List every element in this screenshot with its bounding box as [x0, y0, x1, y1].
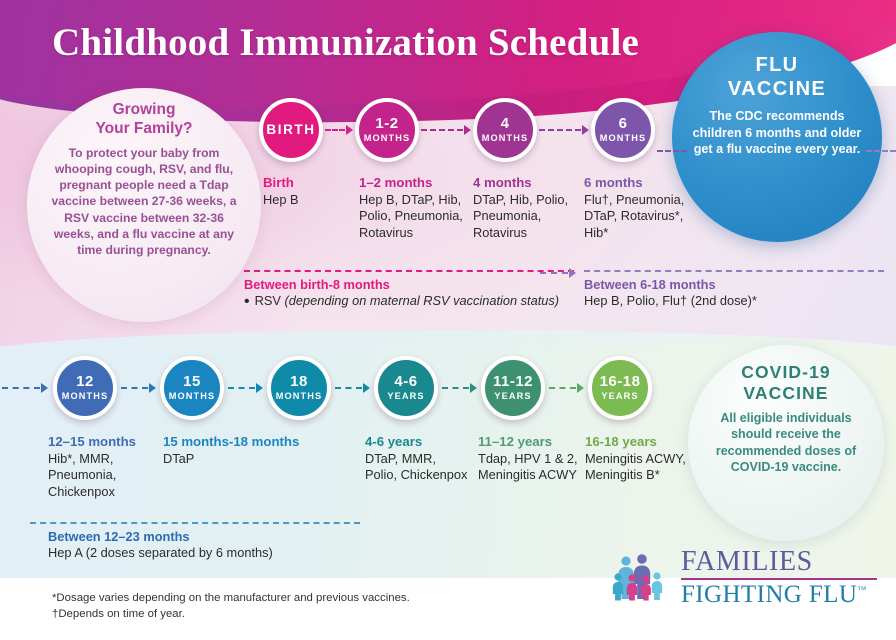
- page-title: Childhood Immunization Schedule: [52, 20, 752, 65]
- column-6-months: 6 months Flu†, Pneumonia, DTaP, Rotaviru…: [584, 175, 696, 241]
- arrow-head: [149, 383, 156, 393]
- between-birth-8-months-body: RSV (depending on maternal RSV vaccinati…: [255, 293, 559, 311]
- timeline-node-15-months-unit: MONTHS: [169, 392, 215, 401]
- arrow-dash: [540, 272, 568, 274]
- growing-family-title: Growing Your Family?: [95, 101, 192, 139]
- arrow-between-birth-8-months: [540, 268, 576, 278]
- arrow-head: [569, 268, 576, 278]
- arrow-dash: [549, 387, 576, 389]
- timeline-node-16-18-years-value: 16-18: [600, 374, 641, 389]
- arrow-flu-to-right-edge: [866, 146, 896, 156]
- bullet-marker: •: [244, 293, 250, 311]
- arrow-head: [470, 383, 477, 393]
- timeline-node-birth-label: BIRTH: [266, 123, 315, 137]
- arrow-dash: [866, 150, 896, 152]
- arrow-15-to-18: [228, 383, 263, 393]
- timeline-node-12-months-unit: MONTHS: [62, 392, 108, 401]
- arrow-left-edge-to-12: [2, 383, 48, 393]
- between-6-18-months: Between 6-18 months Hep B, Polio, Flu† (…: [584, 270, 884, 309]
- arrow-head: [363, 383, 370, 393]
- timeline-node-15-months-value: 15: [183, 374, 201, 389]
- column-birth: Birth Hep B: [263, 175, 349, 208]
- between-6-18-months-rule: [584, 270, 884, 272]
- column-1-2-months: 1–2 months Hep B, DTaP, Hib, Polio, Pneu…: [359, 175, 467, 241]
- column-16-18-years: 16-18 years Meningitis ACWY, Meningitis …: [585, 434, 697, 484]
- arrow-head: [346, 125, 353, 135]
- timeline-node-11-12-years-unit: YEARS: [494, 392, 531, 401]
- timeline-node-4-months[interactable]: 4 MONTHS: [473, 98, 537, 162]
- flu-vaccine-callout: FLU VACCINE The CDC recommends children …: [672, 32, 882, 242]
- flu-vaccine-title-line1: FLU: [728, 54, 826, 78]
- logo-trademark-symbol: ™: [857, 584, 866, 594]
- arrow-dash: [228, 387, 255, 389]
- timeline-node-birth[interactable]: BIRTH: [259, 98, 323, 162]
- column-12-15-months-vaccines: Hib*, MMR, Pneumonia, Chickenpox: [48, 451, 160, 500]
- infographic-page: Childhood Immunization Schedule Growing …: [0, 0, 896, 640]
- flu-vaccine-title-line2: VACCINE: [728, 78, 826, 102]
- growing-family-callout: Growing Your Family? To protect your bab…: [27, 88, 261, 322]
- timeline-node-6-months-value: 6: [619, 116, 628, 131]
- timeline-node-18-months[interactable]: 18 MONTHS: [267, 356, 331, 420]
- family-figures-icon: [612, 552, 672, 602]
- column-birth-vaccines: Hep B: [263, 192, 349, 208]
- footnotes: *Dosage varies depending on the manufact…: [52, 590, 410, 622]
- between-12-23-months: Between 12–23 months Hep A (2 doses sepa…: [30, 522, 360, 561]
- arrow-head: [41, 383, 48, 393]
- growing-family-title-line1: Growing: [95, 101, 192, 120]
- timeline-node-4-6-years-unit: YEARS: [387, 392, 424, 401]
- timeline-node-11-12-years[interactable]: 11-12 YEARS: [481, 356, 545, 420]
- timeline-node-16-18-years[interactable]: 16-18 YEARS: [588, 356, 652, 420]
- column-1-2-months-vaccines: Hep B, DTaP, Hib, Polio, Pneumonia, Rota…: [359, 192, 467, 241]
- timeline-node-18-months-value: 18: [290, 374, 308, 389]
- timeline-node-18-months-unit: MONTHS: [276, 392, 322, 401]
- arrow-dash: [539, 129, 581, 131]
- covid-vaccine-title-line2: VACCINE: [741, 383, 831, 404]
- flu-vaccine-body: The CDC recommends children 6 months and…: [690, 108, 864, 157]
- column-12-15-months: 12–15 months Hib*, MMR, Pneumonia, Chick…: [48, 434, 160, 500]
- logo-divider: [681, 578, 877, 580]
- arrow-6-to-flu: [657, 146, 687, 156]
- column-6-months-heading: 6 months: [584, 175, 696, 191]
- column-15-18-months-heading: 15 months-18 months: [163, 434, 363, 450]
- timeline-node-4-6-years[interactable]: 4-6 YEARS: [374, 356, 438, 420]
- column-15-18-months-vaccines: DTaP: [163, 451, 363, 467]
- timeline-node-15-months[interactable]: 15 MONTHS: [160, 356, 224, 420]
- logo-line-fighting-flu-text: FIGHTING FLU: [681, 581, 857, 608]
- logo-line-families: FAMILIES: [681, 548, 877, 576]
- timeline-node-6-months[interactable]: 6 MONTHS: [591, 98, 655, 162]
- between-12-23-months-body: Hep A (2 doses separated by 6 months): [48, 545, 360, 561]
- growing-family-body: To protect your baby from whooping cough…: [46, 145, 242, 259]
- footnote-dosage: *Dosage varies depending on the manufact…: [52, 590, 410, 606]
- arrow-11-12-to-16-18: [549, 383, 584, 393]
- between-6-18-months-body: Hep B, Polio, Flu† (2nd dose)*: [584, 293, 884, 309]
- column-16-18-years-vaccines: Meningitis ACWY, Meningitis B*: [585, 451, 697, 484]
- logo-wordmark: FAMILIES FIGHTING FLU™: [681, 548, 877, 607]
- timeline-node-1-2-months-value: 1-2: [375, 116, 398, 131]
- column-15-18-months: 15 months-18 months DTaP: [163, 434, 363, 467]
- column-4-6-years: 4-6 years DTaP, MMR, Polio, Chickenpox: [365, 434, 469, 484]
- arrow-1-2-to-4: [421, 125, 471, 135]
- column-12-15-months-heading: 12–15 months: [48, 434, 160, 450]
- arrow-4-6-to-11-12: [442, 383, 477, 393]
- arrow-dash: [657, 150, 687, 152]
- between-birth-8-months: Between birth-8 months • RSV (depending …: [244, 270, 574, 311]
- arrow-head: [256, 383, 263, 393]
- between-6-18-months-heading: Between 6-18 months: [584, 277, 884, 293]
- column-4-months-vaccines: DTaP, Hib, Polio, Pneumonia, Rotavirus: [473, 192, 577, 241]
- arrow-head: [464, 125, 471, 135]
- timeline-node-6-months-unit: MONTHS: [600, 134, 646, 143]
- logo-line-fighting-flu: FIGHTING FLU™: [681, 582, 877, 607]
- timeline-node-16-18-years-unit: YEARS: [601, 392, 638, 401]
- timeline-node-12-months-value: 12: [76, 374, 94, 389]
- arrow-birth-to-1-2: [325, 125, 353, 135]
- arrow-dash: [325, 129, 345, 131]
- column-birth-heading: Birth: [263, 175, 349, 191]
- arrow-dash: [335, 387, 362, 389]
- column-6-months-vaccines: Flu†, Pneumonia, DTaP, Rotavirus*, Hib*: [584, 192, 696, 241]
- covid-vaccine-title-line1: COVID-19: [741, 362, 831, 383]
- footnote-time-of-year: †Depends on time of year.: [52, 606, 410, 622]
- arrow-dash: [442, 387, 469, 389]
- timeline-node-1-2-months[interactable]: 1-2 MONTHS: [355, 98, 419, 162]
- between-12-23-months-heading: Between 12–23 months: [48, 529, 360, 545]
- arrow-4-to-6: [539, 125, 589, 135]
- column-4-months-heading: 4 months: [473, 175, 577, 191]
- arrow-head: [577, 383, 584, 393]
- column-11-12-years-heading: 11–12 years: [478, 434, 580, 450]
- column-1-2-months-heading: 1–2 months: [359, 175, 467, 191]
- timeline-node-4-months-value: 4: [501, 116, 510, 131]
- arrow-dash: [421, 129, 463, 131]
- column-4-6-years-heading: 4-6 years: [365, 434, 469, 450]
- timeline-node-4-months-unit: MONTHS: [482, 134, 528, 143]
- timeline-node-11-12-years-value: 11-12: [493, 374, 533, 389]
- between-birth-8-months-item: • RSV (depending on maternal RSV vaccina…: [244, 293, 574, 311]
- between-birth-8-months-heading: Between birth-8 months: [244, 277, 574, 293]
- column-4-6-years-vaccines: DTaP, MMR, Polio, Chickenpox: [365, 451, 469, 484]
- arrow-dash: [121, 387, 148, 389]
- column-16-18-years-heading: 16-18 years: [585, 434, 697, 450]
- flu-vaccine-title: FLU VACCINE: [728, 54, 826, 101]
- arrow-dash: [2, 387, 40, 389]
- covid-vaccine-body: All eligible individuals should receive …: [703, 410, 869, 475]
- families-fighting-flu-logo[interactable]: FAMILIES FIGHTING FLU™: [612, 548, 882, 606]
- between-birth-8-months-body-italic: (depending on maternal RSV vaccination s…: [284, 293, 559, 308]
- arrow-head: [582, 125, 589, 135]
- arrow-12-to-15: [121, 383, 156, 393]
- between-12-23-months-rule: [30, 522, 360, 524]
- column-11-12-years-vaccines: Tdap, HPV 1 & 2, Meningitis ACWY: [478, 451, 580, 484]
- timeline-node-1-2-months-unit: MONTHS: [364, 134, 410, 143]
- covid-vaccine-callout: COVID-19 VACCINE All eligible individual…: [688, 345, 884, 541]
- growing-family-title-line2: Your Family?: [95, 120, 192, 139]
- between-birth-8-months-rule: [244, 270, 574, 272]
- timeline-node-12-months[interactable]: 12 MONTHS: [53, 356, 117, 420]
- arrow-18-to-4-6: [335, 383, 370, 393]
- covid-vaccine-title: COVID-19 VACCINE: [741, 362, 831, 404]
- column-4-months: 4 months DTaP, Hib, Polio, Pneumonia, Ro…: [473, 175, 577, 241]
- between-birth-8-months-body-plain: RSV: [255, 293, 285, 308]
- column-11-12-years: 11–12 years Tdap, HPV 1 & 2, Meningitis …: [478, 434, 580, 484]
- timeline-node-4-6-years-value: 4-6: [394, 374, 417, 389]
